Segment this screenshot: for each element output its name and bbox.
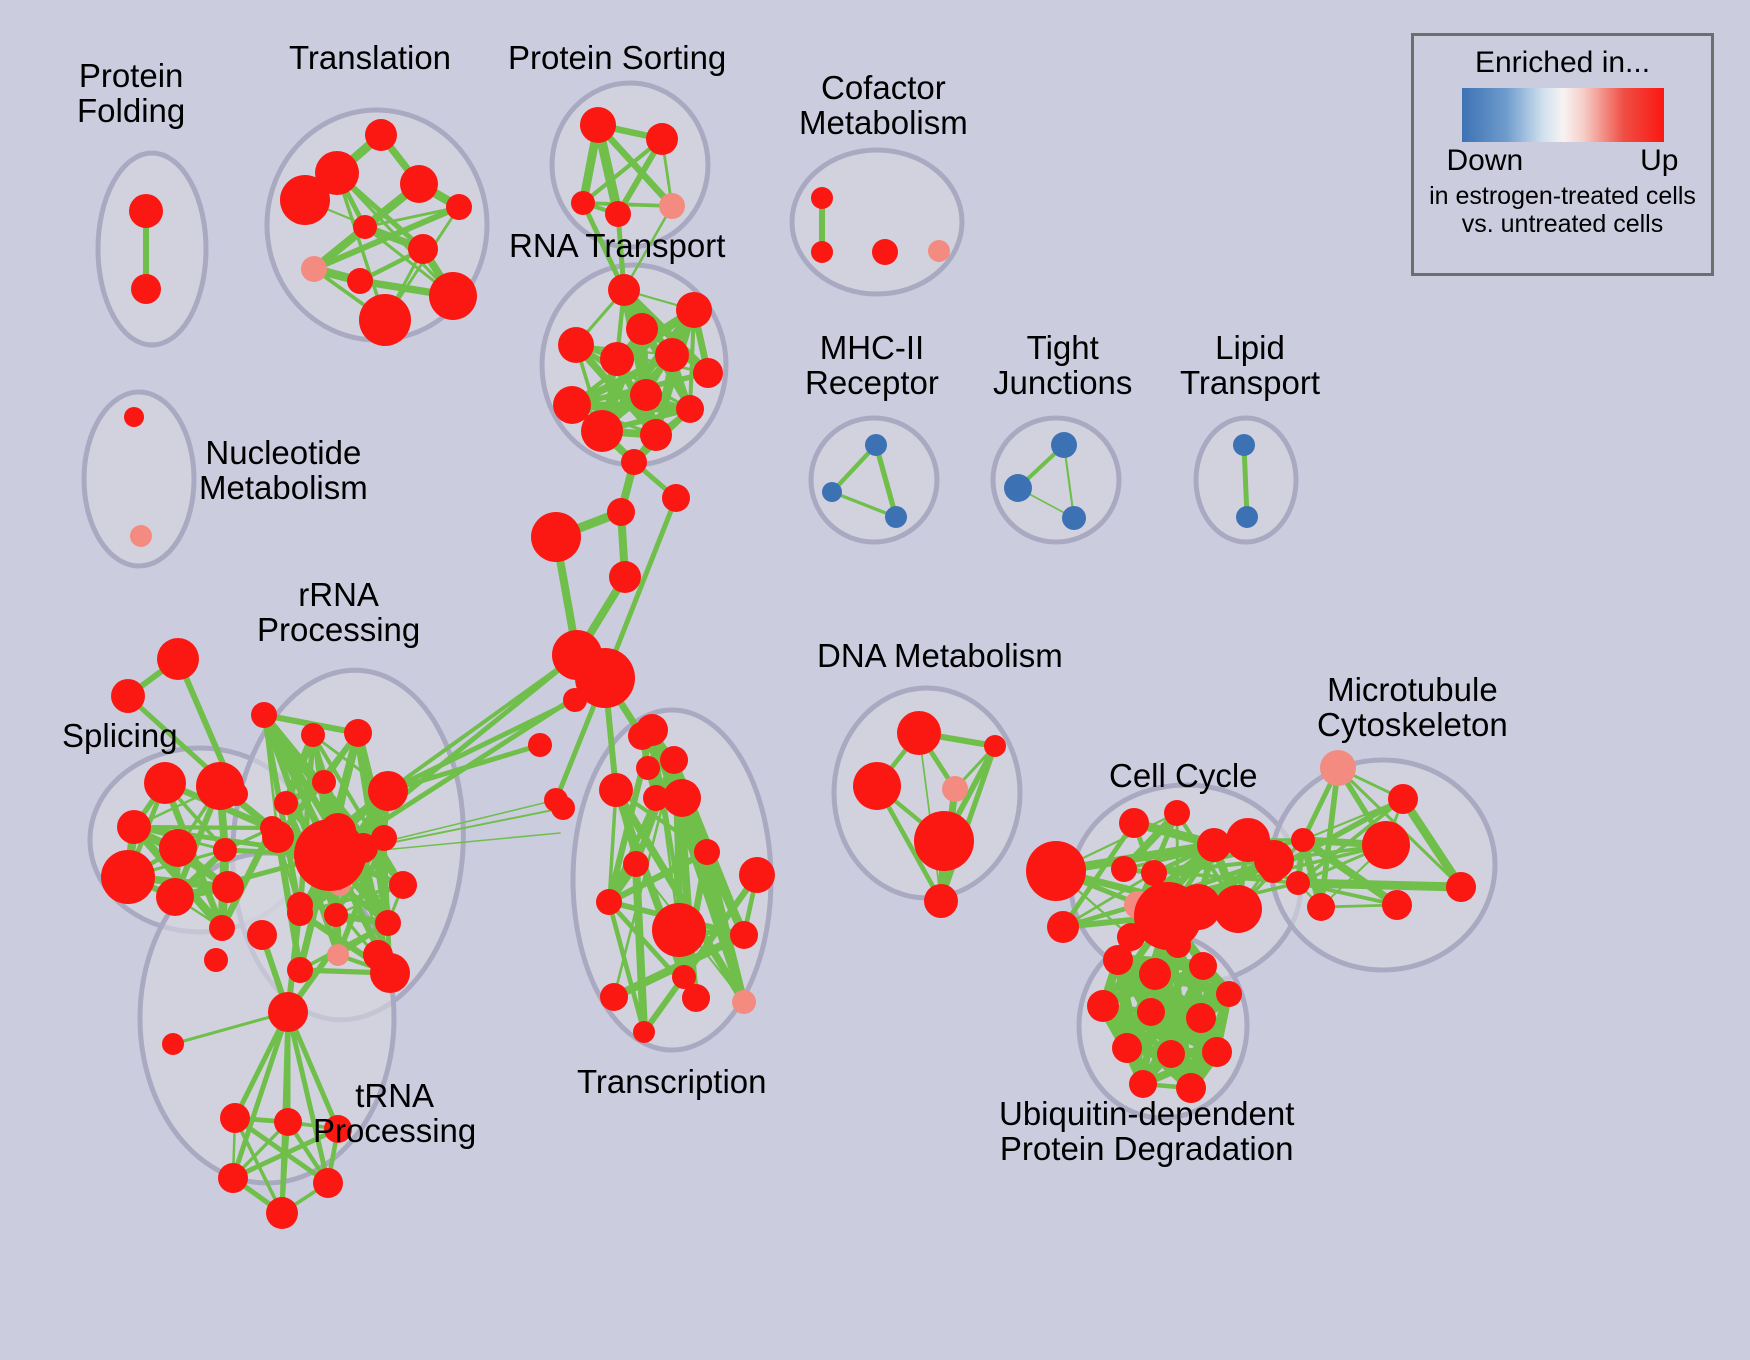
node-translation[interactable] <box>400 165 438 203</box>
legend-subtitle-line2: vs. untreated cells <box>1414 210 1711 238</box>
node-protein-sorting[interactable] <box>659 193 685 219</box>
node-transcription[interactable] <box>623 851 649 877</box>
node-cell-cycle[interactable] <box>1164 800 1190 826</box>
node-trna-processing[interactable] <box>324 1115 352 1143</box>
legend-subtitle-line1: in estrogen-treated cells <box>1414 182 1711 210</box>
node-mhc-ii-receptor[interactable] <box>822 482 842 502</box>
node-cell-cycle[interactable] <box>1214 885 1262 933</box>
node-trna-processing[interactable] <box>287 892 313 918</box>
node-cell-cycle[interactable] <box>1111 856 1137 882</box>
edge <box>1298 883 1461 887</box>
node-microtubule-cytoskeleton[interactable] <box>1320 750 1356 786</box>
node-rna-transport[interactable] <box>630 379 662 411</box>
node-rna-transport[interactable] <box>693 358 723 388</box>
node-transcription[interactable] <box>599 773 633 807</box>
node-trna-processing[interactable] <box>218 1163 248 1193</box>
node-trna-processing[interactable] <box>268 992 308 1032</box>
node-rna-spine[interactable] <box>544 788 568 812</box>
node-protein-sorting[interactable] <box>605 201 631 227</box>
node-transcription[interactable] <box>652 903 706 957</box>
legend-title: Enriched in... <box>1414 46 1711 80</box>
node-ubiquitin-protein-degradation[interactable] <box>1112 1033 1142 1063</box>
node-ubiquitin-protein-degradation[interactable] <box>1216 981 1242 1007</box>
legend-box: Enriched in... Down Up in estrogen-treat… <box>1411 33 1714 276</box>
node-lipid-transport[interactable] <box>1233 434 1255 456</box>
node-rna-spine[interactable] <box>621 449 647 475</box>
node-rna-transport[interactable] <box>581 410 623 452</box>
node-ubiquitin-protein-degradation[interactable] <box>1186 1003 1216 1033</box>
node-rna-transport[interactable] <box>640 419 672 451</box>
node-transcription[interactable] <box>596 889 622 915</box>
node-cell-cycle[interactable] <box>1197 828 1231 862</box>
node-microtubule-cytoskeleton[interactable] <box>1307 893 1335 921</box>
node-rrna-processing[interactable] <box>344 719 372 747</box>
node-lipid-transport[interactable] <box>1236 506 1258 528</box>
node-splicing[interactable] <box>157 638 199 680</box>
node-splicing[interactable] <box>224 782 248 806</box>
node-rrna-processing[interactable] <box>327 944 349 966</box>
node-translation[interactable] <box>429 272 477 320</box>
node-cell-cycle[interactable] <box>1026 841 1086 901</box>
node-transcription[interactable] <box>732 990 756 1014</box>
node-dna-metabolism[interactable] <box>942 776 968 802</box>
node-transcription[interactable] <box>600 983 628 1011</box>
node-cofactor-metabolism[interactable] <box>811 241 833 263</box>
node-microtubule-cytoskeleton[interactable] <box>1382 890 1412 920</box>
node-dna-metabolism[interactable] <box>914 811 974 871</box>
node-ubiquitin-protein-degradation[interactable] <box>1134 882 1202 950</box>
node-splicing[interactable] <box>156 878 194 916</box>
node-tight-junctions[interactable] <box>1062 506 1086 530</box>
legend-high-label: Up <box>1640 144 1678 178</box>
node-transcription[interactable] <box>730 921 758 949</box>
node-rrna-processing[interactable] <box>389 871 417 899</box>
node-translation[interactable] <box>280 175 330 225</box>
cluster-hull-cofactor-metabolism <box>792 150 962 294</box>
node-cell-cycle[interactable] <box>1119 808 1149 838</box>
node-microtubule-cytoskeleton[interactable] <box>1388 784 1418 814</box>
node-rrna-processing[interactable] <box>528 733 552 757</box>
node-protein-sorting[interactable] <box>571 191 595 215</box>
node-protein-sorting[interactable] <box>580 107 616 143</box>
node-rrna-processing[interactable] <box>312 770 336 794</box>
node-transcription[interactable] <box>682 984 710 1012</box>
node-cofactor-metabolism[interactable] <box>928 240 950 262</box>
node-rrna-processing[interactable] <box>368 771 408 811</box>
node-protein-sorting[interactable] <box>646 123 678 155</box>
node-splicing[interactable] <box>144 762 186 804</box>
node-protein-folding[interactable] <box>131 274 161 304</box>
node-rna-spine[interactable] <box>531 512 581 562</box>
node-transcription[interactable] <box>633 1021 655 1043</box>
node-rrna-processing[interactable] <box>324 903 348 927</box>
node-trna-processing[interactable] <box>204 948 228 972</box>
node-rrna-processing[interactable] <box>262 821 294 853</box>
node-rna-transport[interactable] <box>676 395 704 423</box>
node-nucleotide-metabolism[interactable] <box>124 407 144 427</box>
node-microtubule-cytoskeleton[interactable] <box>1362 821 1410 869</box>
node-rna-spine[interactable] <box>575 648 635 708</box>
node-tight-junctions[interactable] <box>1051 432 1077 458</box>
node-splicing[interactable] <box>213 838 237 862</box>
node-rna-spine[interactable] <box>607 498 635 526</box>
node-rna-transport[interactable] <box>676 292 712 328</box>
node-rrna-processing[interactable] <box>301 723 325 747</box>
node-trna-processing[interactable] <box>363 940 393 970</box>
node-cell-cycle[interactable] <box>1141 860 1167 886</box>
node-cofactor-metabolism[interactable] <box>872 239 898 265</box>
node-protein-folding[interactable] <box>129 194 163 228</box>
node-splicing[interactable] <box>212 871 244 903</box>
node-rrna-processing-hub[interactable] <box>294 819 366 891</box>
node-dna-metabolism[interactable] <box>897 711 941 755</box>
node-cell-cycle[interactable] <box>1047 911 1079 943</box>
node-mhc-ii-receptor[interactable] <box>865 434 887 456</box>
node-rrna-processing[interactable] <box>371 825 397 851</box>
node-rna-spine[interactable] <box>609 561 641 593</box>
node-ubiquitin-protein-degradation[interactable] <box>1087 990 1119 1022</box>
node-mhc-ii-receptor[interactable] <box>885 506 907 528</box>
node-rna-spine[interactable] <box>628 722 656 750</box>
node-microtubule-cytoskeleton[interactable] <box>1286 871 1310 895</box>
node-splicing[interactable] <box>101 850 155 904</box>
node-translation[interactable] <box>365 119 397 151</box>
node-ubiquitin-protein-degradation[interactable] <box>1176 1073 1206 1103</box>
node-rna-transport[interactable] <box>558 327 594 363</box>
node-trna-processing[interactable] <box>313 1168 343 1198</box>
node-trna-processing[interactable] <box>247 920 277 950</box>
node-tight-junctions[interactable] <box>1004 474 1032 502</box>
node-splicing[interactable] <box>209 915 235 941</box>
node-translation[interactable] <box>347 268 373 294</box>
node-dna-metabolism[interactable] <box>853 762 901 810</box>
node-transcription[interactable] <box>694 839 720 865</box>
node-ubiquitin-protein-degradation[interactable] <box>1129 1070 1157 1098</box>
node-ubiquitin-protein-degradation[interactable] <box>1139 958 1171 990</box>
node-rna-transport[interactable] <box>608 274 640 306</box>
node-rrna-processing[interactable] <box>375 910 401 936</box>
node-trna-processing[interactable] <box>162 1033 184 1055</box>
node-translation[interactable] <box>301 256 327 282</box>
node-splicing[interactable] <box>111 679 145 713</box>
node-transcription[interactable] <box>739 857 775 893</box>
node-splicing[interactable] <box>159 829 197 867</box>
node-rrna-processing[interactable] <box>274 791 298 815</box>
node-dna-metabolism[interactable] <box>984 735 1006 757</box>
node-microtubule-cytoskeleton[interactable] <box>1260 857 1286 883</box>
node-trna-processing[interactable] <box>274 1108 302 1136</box>
node-ubiquitin-protein-degradation[interactable] <box>1157 1040 1185 1068</box>
node-dna-metabolism[interactable] <box>924 884 958 918</box>
cluster-hull-protein-folding <box>98 153 206 345</box>
node-trna-processing[interactable] <box>266 1197 298 1229</box>
figure-canvas: Protein FoldingTranslationProtein Sortin… <box>0 0 1750 1360</box>
node-rrna-processing[interactable] <box>287 957 313 983</box>
node-rrna-processing[interactable] <box>251 702 277 728</box>
node-nucleotide-metabolism[interactable] <box>130 525 152 547</box>
node-ubiquitin-protein-degradation[interactable] <box>1189 952 1217 980</box>
node-rna-transport[interactable] <box>600 342 634 376</box>
node-microtubule-cytoskeleton[interactable] <box>1446 872 1476 902</box>
node-rna-spine[interactable] <box>636 756 660 780</box>
node-translation[interactable] <box>446 194 472 220</box>
node-ubiquitin-protein-degradation[interactable] <box>1103 945 1133 975</box>
node-rna-transport[interactable] <box>655 338 689 372</box>
node-splicing[interactable] <box>117 810 151 844</box>
legend-low-label: Down <box>1447 144 1524 178</box>
node-rna-spine[interactable] <box>643 785 669 811</box>
node-microtubule-cytoskeleton[interactable] <box>1291 828 1315 852</box>
node-rna-spine[interactable] <box>662 484 690 512</box>
node-cofactor-metabolism[interactable] <box>811 187 833 209</box>
node-ubiquitin-protein-degradation[interactable] <box>1137 998 1165 1026</box>
node-ubiquitin-protein-degradation[interactable] <box>1202 1037 1232 1067</box>
node-rna-transport[interactable] <box>626 313 658 345</box>
node-translation[interactable] <box>353 215 377 239</box>
node-translation[interactable] <box>408 234 438 264</box>
legend-color-gradient <box>1462 88 1664 142</box>
node-transcription[interactable] <box>660 746 688 774</box>
node-translation[interactable] <box>359 294 411 346</box>
node-trna-processing[interactable] <box>220 1103 250 1133</box>
